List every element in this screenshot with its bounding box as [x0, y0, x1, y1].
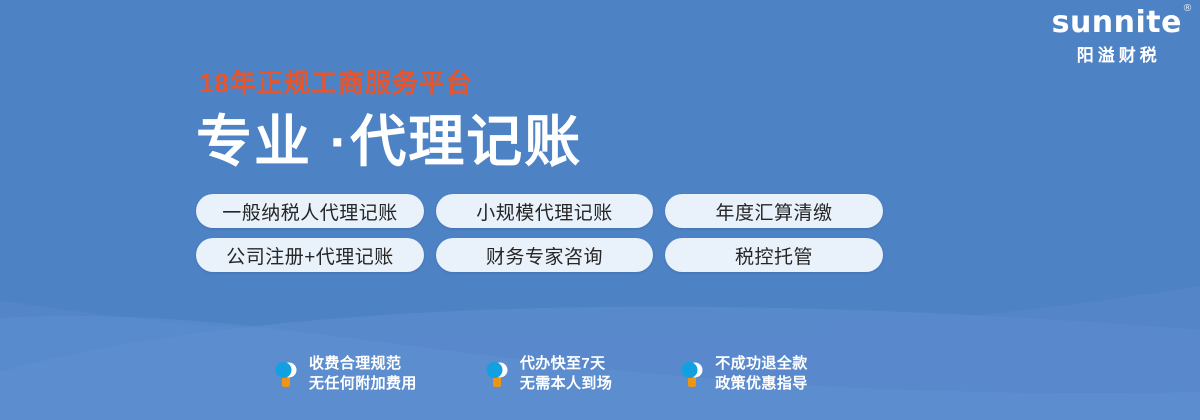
- badge-person-icon: [272, 359, 300, 389]
- hero-copy-block: 18年正规工商服务平台 专业 ·代理记账 一般纳税人代理记账 小规模代理记账 年…: [196, 70, 883, 272]
- service-pill-general-taxpayer-bookkeeping[interactable]: 一般纳税人代理记账: [196, 194, 424, 228]
- feature-line-2: 无需本人到场: [520, 376, 612, 392]
- service-pill-tax-control-custody[interactable]: 税控托管: [665, 238, 883, 272]
- service-pill-small-scale-bookkeeping[interactable]: 小规模代理记账: [436, 194, 653, 228]
- hero-kicker: 18年正规工商服务平台: [199, 70, 883, 96]
- feature-line-1: 收费合理规范: [309, 356, 417, 372]
- brand-logo-wordmark: sunnite ®: [1052, 8, 1182, 38]
- feature-text-pricing: 收费合理规范 无任何附加费用: [309, 356, 417, 393]
- registered-trademark-icon: ®: [1183, 4, 1194, 14]
- service-pill-company-registration-bookkeeping[interactable]: 公司注册+代理记账: [196, 238, 424, 272]
- feature-text-guarantee: 不成功退全款 政策优惠指导: [715, 356, 807, 393]
- brand-logo[interactable]: sunnite ® 阳溢财税: [1052, 8, 1182, 64]
- hero-headline: 专业 ·代理记账: [196, 114, 883, 170]
- service-pill-grid: 一般纳税人代理记账 小规模代理记账 年度汇算清缴 公司注册+代理记账 财务专家咨…: [196, 194, 883, 272]
- service-pill-finance-expert-consulting[interactable]: 财务专家咨询: [436, 238, 653, 272]
- service-pill-row-1: 一般纳税人代理记账 小规模代理记账 年度汇算清缴: [196, 194, 883, 228]
- feature-item-speed: 代办快至7天 无需本人到场: [483, 356, 612, 393]
- feature-item-guarantee: 不成功退全款 政策优惠指导: [678, 356, 807, 393]
- badge-person-icon: [483, 359, 511, 389]
- brand-logo-chinese-name: 阳溢财税: [1052, 47, 1182, 64]
- feature-strip: 收费合理规范 无任何附加费用 代办快至7天 无需本人到场 不成功退全款: [272, 356, 808, 393]
- service-pill-annual-settlement[interactable]: 年度汇算清缴: [665, 194, 883, 228]
- service-pill-row-2: 公司注册+代理记账 财务专家咨询 税控托管: [196, 238, 883, 272]
- feature-line-2: 无任何附加费用: [309, 376, 417, 392]
- feature-item-pricing: 收费合理规范 无任何附加费用: [272, 356, 417, 393]
- feature-line-2: 政策优惠指导: [715, 376, 807, 392]
- feature-line-1: 代办快至7天: [520, 356, 612, 372]
- badge-person-icon: [678, 359, 706, 389]
- feature-text-speed: 代办快至7天 无需本人到场: [520, 356, 612, 393]
- feature-line-1: 不成功退全款: [715, 356, 807, 372]
- marketing-banner: sunnite ® 阳溢财税 18年正规工商服务平台 专业 ·代理记账 一般纳税…: [0, 0, 1200, 420]
- brand-logo-text: sunnite: [1052, 5, 1182, 40]
